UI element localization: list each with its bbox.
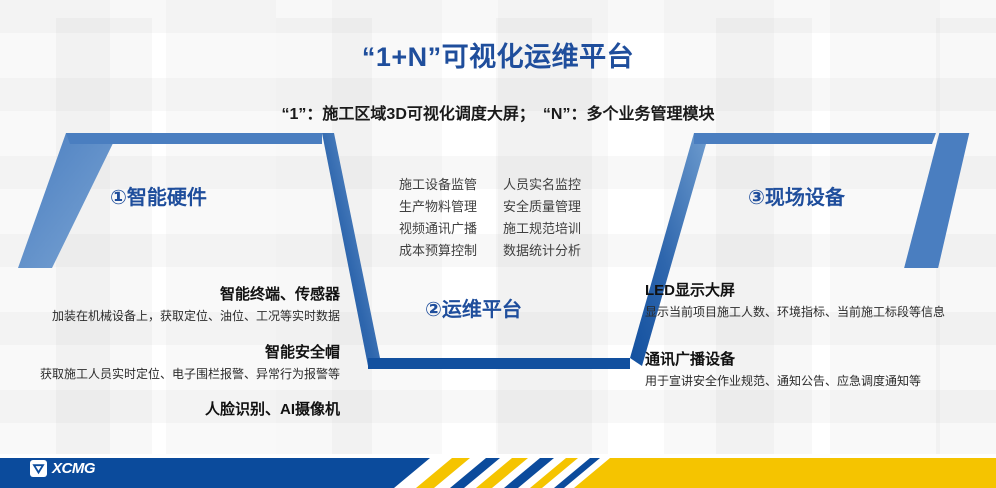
- detail-heading: 智能终端、传感器: [10, 283, 340, 304]
- slide-canvas: “1+N”可视化运维平台 “1”：施工区域3D可视化调度大屏； “N”：多个业务…: [0, 0, 996, 488]
- detail-heading: 通讯广播设备: [645, 348, 965, 369]
- module-item: 施工设备监管: [399, 174, 477, 196]
- module-item: 安全质量管理: [503, 196, 581, 218]
- module-list: 施工设备监管 生产物料管理 视频通讯广播 成本预算控制 人员实名监控 安全质量管…: [370, 174, 610, 262]
- module-column-left: 施工设备监管 生产物料管理 视频通讯广播 成本预算控制: [399, 174, 477, 262]
- detail-body: 获取施工人员实时定位、电子围栏报警、异常行为报警等: [10, 365, 340, 383]
- triangle-logo-icon: [30, 460, 47, 477]
- detail-block-smart-helmet: 智能安全帽 获取施工人员实时定位、电子围栏报警、异常行为报警等: [10, 341, 340, 383]
- detail-heading: 人脸识别、AI摄像机: [10, 398, 340, 419]
- module-item: 生产物料管理: [399, 196, 477, 218]
- xcmg-logo: XCMG: [30, 460, 95, 477]
- detail-block-led-screen: LED显示大屏 显示当前项目施工人数、环境指标、当前施工标段等信息: [645, 279, 965, 321]
- module-item: 数据统计分析: [503, 240, 581, 262]
- detail-block-broadcast-device: 通讯广播设备 用于宣讲安全作业规范、通知公告、应急调度通知等: [645, 348, 965, 390]
- module-item: 施工规范培训: [503, 218, 581, 240]
- detail-heading: LED显示大屏: [645, 279, 965, 300]
- module-column-right: 人员实名监控 安全质量管理 施工规范培训 数据统计分析: [503, 174, 581, 262]
- detail-heading: 智能安全帽: [10, 341, 340, 362]
- detail-body: 用于宣讲安全作业规范、通知公告、应急调度通知等: [645, 372, 965, 390]
- module-item: 视频通讯广播: [399, 218, 477, 240]
- detail-body: 显示当前项目施工人数、环境指标、当前施工标段等信息: [645, 303, 965, 321]
- pillar-label-platform: ②运维平台: [425, 293, 522, 322]
- footer-stripes: [0, 454, 996, 488]
- detail-block-face-recognition: 人脸识别、AI摄像机: [10, 398, 340, 422]
- pillar-label-field: ③现场设备: [748, 181, 845, 210]
- detail-block-smart-terminal: 智能终端、传感器 加装在机械设备上，获取定位、油位、工况等实时数据: [10, 283, 340, 325]
- page-title: “1+N”可视化运维平台: [0, 35, 996, 74]
- xcmg-logo-text: XCMG: [52, 460, 95, 477]
- detail-body: 加装在机械设备上，获取定位、油位、工况等实时数据: [10, 307, 340, 325]
- module-item: 成本预算控制: [399, 240, 477, 262]
- module-item: 人员实名监控: [503, 174, 581, 196]
- pillar-label-hardware: ①智能硬件: [110, 181, 207, 210]
- footer-bar: XCMG: [0, 454, 996, 488]
- page-subtitle: “1”：施工区域3D可视化调度大屏； “N”：多个业务管理模块: [198, 99, 798, 130]
